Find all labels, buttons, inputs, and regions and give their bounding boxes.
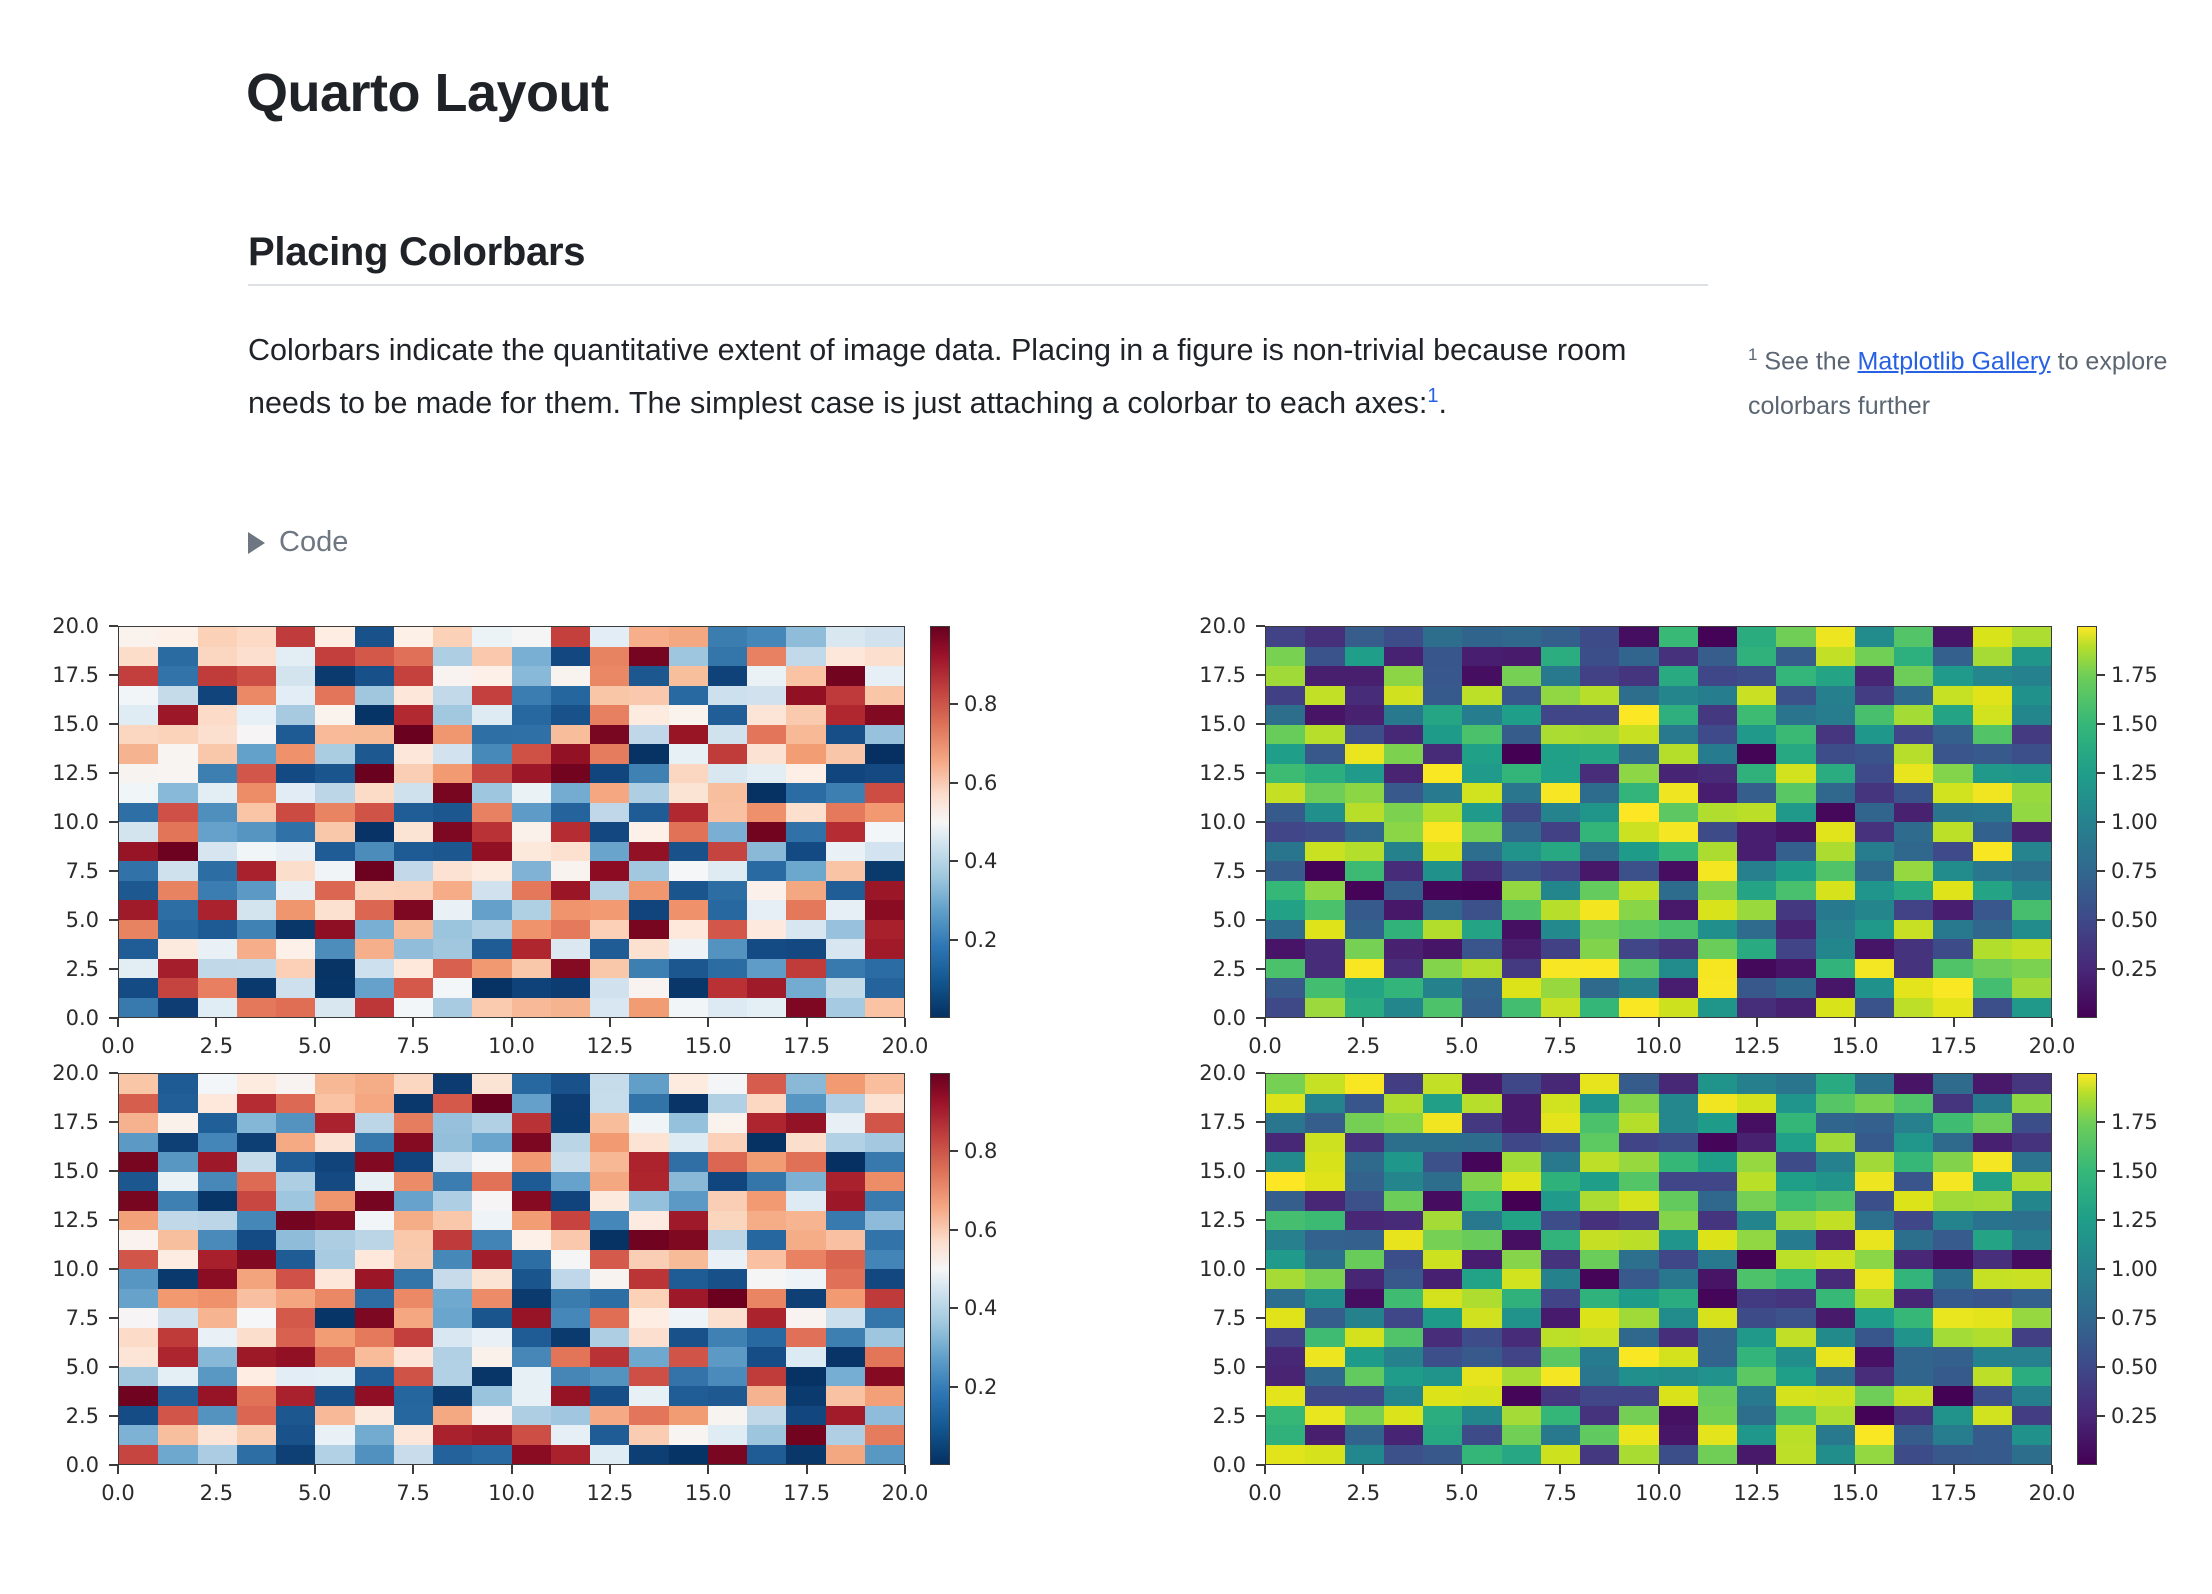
y-tick-label: 17.5 [1160,1110,1246,1134]
y-tickmark [109,1072,118,1074]
x-tickmark [412,1465,414,1474]
x-tickmark [215,1018,217,1027]
y-tickmark [1256,1317,1265,1319]
colorbar-tickmark [2097,674,2105,676]
colorbar-tick-label: 1.00 [2111,810,2158,834]
colorbar-tickmark [2097,919,2105,921]
x-tick-label: 5.0 [298,1481,331,1505]
colorbar-tickmark [2097,870,2105,872]
x-tickmark [1362,1465,1364,1474]
y-tick-label: 5.0 [13,1355,99,1379]
x-tickmark [1756,1465,1758,1474]
x-tick-label: 7.5 [396,1481,429,1505]
x-tickmark [806,1465,808,1474]
x-tickmark [1461,1465,1463,1474]
colorbar-tickmark [950,860,958,862]
colorbar-tick-label: 0.50 [2111,1355,2158,1379]
x-tickmark [1658,1018,1660,1027]
x-tickmark [806,1018,808,1027]
colorbar-tick-label: 0.6 [964,771,997,795]
y-tick-label: 20.0 [13,1061,99,1085]
colorbar-tickmark [2097,1366,2105,1368]
colorbar-panel-bottom-right[interactable] [2077,1073,2097,1465]
colorbar-tick-label: 0.8 [964,692,997,716]
y-tickmark [1256,821,1265,823]
x-tickmark [1264,1465,1266,1474]
colorbar-tickmark [2097,1121,2105,1123]
colorbar-tickmark [950,703,958,705]
x-tick-label: 15.0 [685,1034,732,1058]
y-tick-label: 15.0 [1160,1159,1246,1183]
colorbar-tickmark [2097,723,2105,725]
x-tick-label: 15.0 [1832,1481,1879,1505]
x-tick-label: 15.0 [1832,1034,1879,1058]
y-tick-label: 17.5 [13,1110,99,1134]
x-tick-label: 20.0 [882,1481,929,1505]
y-tick-label: 2.5 [13,957,99,981]
x-tickmark [2051,1465,2053,1474]
y-tick-label: 2.5 [1160,1404,1246,1428]
x-tickmark [1953,1018,1955,1027]
y-tickmark [109,1366,118,1368]
colorbar-tick-label: 1.25 [2111,1208,2158,1232]
margin-note: 1 See the Matplotlib Gallery to explore … [1748,332,2168,429]
colorbar-tickmark [2097,821,2105,823]
colorbar-tick-label: 0.2 [964,928,997,952]
colorbar-tickmark [2097,1415,2105,1417]
y-tickmark [1256,919,1265,921]
y-tickmark [1256,1219,1265,1221]
figure-grid: 0.02.55.07.510.012.515.017.520.00.02.55.… [0,604,2212,1504]
code-toggle-label: Code [279,526,348,559]
matplotlib-gallery-link[interactable]: Matplotlib Gallery [1858,347,2051,375]
x-tick-label: 17.5 [1930,1034,1977,1058]
y-tick-label: 12.5 [13,1208,99,1232]
x-tickmark [1362,1018,1364,1027]
x-tickmark [904,1018,906,1027]
colorbar-tick-label: 1.50 [2111,712,2158,736]
y-tickmark [109,1170,118,1172]
x-tickmark [707,1018,709,1027]
x-tick-label: 2.5 [200,1481,233,1505]
x-tickmark [1756,1018,1758,1027]
colorbar-tick-label: 0.8 [964,1139,997,1163]
y-tick-label: 20.0 [13,614,99,638]
colorbar-tick-label: 1.75 [2111,1110,2158,1134]
y-tick-label: 5.0 [1160,908,1246,932]
x-tickmark [707,1465,709,1474]
y-tickmark [109,1268,118,1270]
x-tick-label: 2.5 [1347,1034,1380,1058]
x-tick-label: 2.5 [1347,1481,1380,1505]
y-tick-label: 15.0 [13,1159,99,1183]
y-tick-label: 7.5 [1160,859,1246,883]
y-tick-label: 2.5 [1160,957,1246,981]
y-tickmark [109,919,118,921]
y-tickmark [109,1317,118,1319]
colorbar-panel-bottom-left[interactable] [930,1073,950,1465]
colorbar-tick-label: 0.25 [2111,957,2158,981]
colorbar-tick-label: 0.6 [964,1218,997,1242]
x-tick-label: 10.0 [488,1481,535,1505]
x-tick-label: 5.0 [1445,1034,1478,1058]
colorbar-tickmark [950,1229,958,1231]
y-tick-label: 10.0 [13,1257,99,1281]
y-tickmark [1256,723,1265,725]
page-root: Quarto Layout Placing Colorbars Colorbar… [0,0,2212,1594]
x-tickmark [1559,1018,1561,1027]
x-tick-label: 15.0 [685,1481,732,1505]
y-tickmark [1256,1170,1265,1172]
y-tickmark [1256,870,1265,872]
y-tick-label: 0.0 [13,1453,99,1477]
y-tickmark [109,1415,118,1417]
x-tickmark [609,1018,611,1027]
heatmap-cells [1266,1074,2051,1464]
x-tick-label: 0.0 [1248,1481,1281,1505]
x-tickmark [1854,1465,1856,1474]
colorbar-tickmark [950,1150,958,1152]
heatmap-panel-top-right[interactable] [1265,626,2052,1018]
code-disclosure-toggle[interactable]: Code [248,526,348,559]
colorbar-tick-label: 0.2 [964,1375,997,1399]
x-tick-label: 0.0 [1248,1034,1281,1058]
section-divider [248,284,1708,286]
colorbar-tickmark [2097,1317,2105,1319]
page-title: Quarto Layout [246,62,609,124]
colorbar-tick-label: 0.25 [2111,1404,2158,1428]
y-tickmark [1256,1072,1265,1074]
y-tickmark [109,870,118,872]
x-tick-label: 17.5 [783,1034,830,1058]
y-tickmark [109,968,118,970]
x-tick-label: 12.5 [586,1034,633,1058]
colorbar-tickmark [2097,772,2105,774]
x-tickmark [1854,1018,1856,1027]
x-tick-label: 10.0 [1635,1481,1682,1505]
x-tickmark [314,1465,316,1474]
y-tick-label: 0.0 [1160,1453,1246,1477]
x-tick-label: 5.0 [298,1034,331,1058]
triangle-right-icon [248,532,265,554]
x-tick-label: 17.5 [1930,1481,1977,1505]
colorbar-tick-label: 0.4 [964,1296,997,1320]
colorbar-tick-label: 0.75 [2111,859,2158,883]
y-tickmark [109,625,118,627]
y-tickmark [1256,1366,1265,1368]
colorbar-tickmark [950,782,958,784]
colorbar-tickmark [2097,1268,2105,1270]
colorbar-tick-label: 1.25 [2111,761,2158,785]
y-tickmark [1256,625,1265,627]
x-tickmark [904,1465,906,1474]
y-tick-label: 2.5 [13,1404,99,1428]
body-text-tail: . [1439,386,1447,420]
colorbar-panel-top-left[interactable] [930,626,950,1018]
x-tick-label: 20.0 [2029,1034,2076,1058]
heatmap-cells [1266,627,2051,1017]
x-tickmark [1559,1465,1561,1474]
colorbar-tickmark [2097,1170,2105,1172]
colorbar-tick-label: 0.75 [2111,1306,2158,1330]
colorbar-tick-label: 1.50 [2111,1159,2158,1183]
y-tick-label: 5.0 [13,908,99,932]
colorbar-tick-label: 1.00 [2111,1257,2158,1281]
colorbar-tickmark [950,1386,958,1388]
y-tickmark [109,1219,118,1221]
colorbar-tickmark [2097,968,2105,970]
x-tick-label: 7.5 [1543,1481,1576,1505]
x-tickmark [1264,1018,1266,1027]
x-tickmark [1953,1465,1955,1474]
y-tick-label: 7.5 [13,859,99,883]
y-tickmark [1256,1415,1265,1417]
x-tick-label: 12.5 [586,1481,633,1505]
x-tick-label: 5.0 [1445,1481,1478,1505]
y-tick-label: 0.0 [13,1006,99,1030]
y-tickmark [109,1121,118,1123]
y-tick-label: 12.5 [1160,761,1246,785]
x-tickmark [117,1018,119,1027]
x-tick-label: 0.0 [101,1034,134,1058]
x-tick-label: 20.0 [882,1034,929,1058]
x-tickmark [2051,1018,2053,1027]
y-tickmark [109,772,118,774]
y-tick-label: 20.0 [1160,1061,1246,1085]
colorbar-tickmark [950,939,958,941]
y-tickmark [109,674,118,676]
body-paragraph: Colorbars indicate the quantitative exte… [248,324,1690,430]
body-text: Colorbars indicate the quantitative exte… [248,333,1626,420]
colorbar-tickmark [2097,1219,2105,1221]
section-heading: Placing Colorbars [248,230,585,275]
y-tick-label: 10.0 [1160,810,1246,834]
heatmap-cells [119,627,904,1017]
x-tick-label: 7.5 [396,1034,429,1058]
x-tick-label: 10.0 [1635,1034,1682,1058]
y-tickmark [1256,1121,1265,1123]
colorbar-tick-label: 1.75 [2111,663,2158,687]
margin-note-text-before: See the [1757,347,1857,375]
y-tick-label: 12.5 [13,761,99,785]
y-tick-label: 7.5 [13,1306,99,1330]
y-tick-label: 15.0 [1160,712,1246,736]
y-tickmark [109,821,118,823]
x-tick-label: 7.5 [1543,1034,1576,1058]
colorbar-tick-label: 0.50 [2111,908,2158,932]
y-tickmark [1256,772,1265,774]
y-tick-label: 17.5 [13,663,99,687]
colorbar-tick-label: 0.4 [964,849,997,873]
x-tick-label: 12.5 [1733,1481,1780,1505]
x-tickmark [511,1018,513,1027]
x-tick-label: 12.5 [1733,1034,1780,1058]
y-tickmark [1256,1268,1265,1270]
colorbar-tickmark [950,1307,958,1309]
y-tickmark [1256,674,1265,676]
y-tick-label: 10.0 [13,810,99,834]
x-tickmark [1658,1465,1660,1474]
x-tickmark [314,1018,316,1027]
y-tick-label: 10.0 [1160,1257,1246,1281]
x-tickmark [412,1018,414,1027]
x-tick-label: 17.5 [783,1481,830,1505]
x-tick-label: 0.0 [101,1481,134,1505]
x-tickmark [215,1465,217,1474]
y-tick-label: 20.0 [1160,614,1246,638]
x-tickmark [117,1465,119,1474]
x-tickmark [511,1465,513,1474]
y-tick-label: 0.0 [1160,1006,1246,1030]
x-tickmark [1461,1018,1463,1027]
heatmap-panel-bottom-left[interactable] [118,1073,905,1465]
x-tick-label: 10.0 [488,1034,535,1058]
heatmap-panel-top-left[interactable] [118,626,905,1018]
y-tick-label: 5.0 [1160,1355,1246,1379]
y-tick-label: 7.5 [1160,1306,1246,1330]
footnote-reference[interactable]: 1 [1427,385,1438,407]
x-tickmark [609,1465,611,1474]
x-tick-label: 2.5 [200,1034,233,1058]
y-tick-label: 15.0 [13,712,99,736]
y-tickmark [1256,968,1265,970]
heatmap-panel-bottom-right[interactable] [1265,1073,2052,1465]
y-tickmark [109,723,118,725]
colorbar-panel-top-right[interactable] [2077,626,2097,1018]
heatmap-cells [119,1074,904,1464]
y-tick-label: 12.5 [1160,1208,1246,1232]
x-tick-label: 20.0 [2029,1481,2076,1505]
y-tick-label: 17.5 [1160,663,1246,687]
